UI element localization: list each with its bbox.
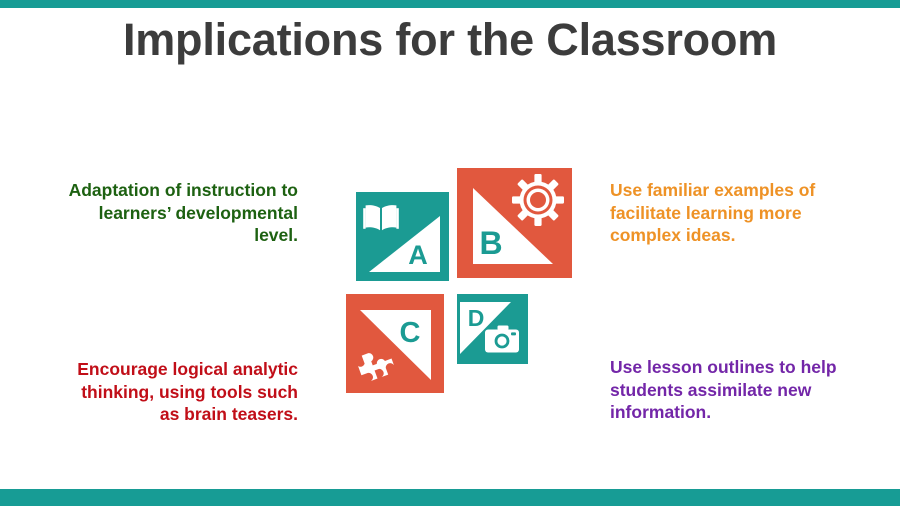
callout-bottom-left: Encourage logical analytic thinking, usi… xyxy=(58,358,298,426)
tile-c-letter: C xyxy=(400,317,421,349)
tile-a-art: A xyxy=(356,192,449,281)
tile-b-art: B xyxy=(457,168,572,278)
tile-a[interactable]: A xyxy=(356,192,449,281)
tile-d[interactable]: D xyxy=(457,294,528,364)
tile-b[interactable]: B xyxy=(457,168,572,278)
callout-top-right: Use familiar examples of facilitate lear… xyxy=(610,179,860,247)
top-accent-bar xyxy=(0,0,900,8)
page-title: Implications for the Classroom xyxy=(0,14,900,66)
tile-d-art: D xyxy=(457,294,528,364)
callout-bottom-right: Use lesson outlines to help students ass… xyxy=(610,356,860,424)
gear-icon xyxy=(512,174,564,226)
tile-a-letter: A xyxy=(408,240,428,270)
four-tile-diagram: A B xyxy=(340,160,580,400)
slide-canvas: Implications for the Classroom Adaptatio… xyxy=(0,0,900,506)
camera-icon xyxy=(485,326,519,353)
tile-c[interactable]: C xyxy=(346,294,444,393)
tile-b-letter: B xyxy=(479,225,502,261)
callout-top-left: Adaptation of instruction to learners’ d… xyxy=(58,179,298,247)
bottom-accent-bar xyxy=(0,489,900,506)
tile-d-letter: D xyxy=(468,305,485,331)
tile-c-art: C xyxy=(346,294,444,393)
